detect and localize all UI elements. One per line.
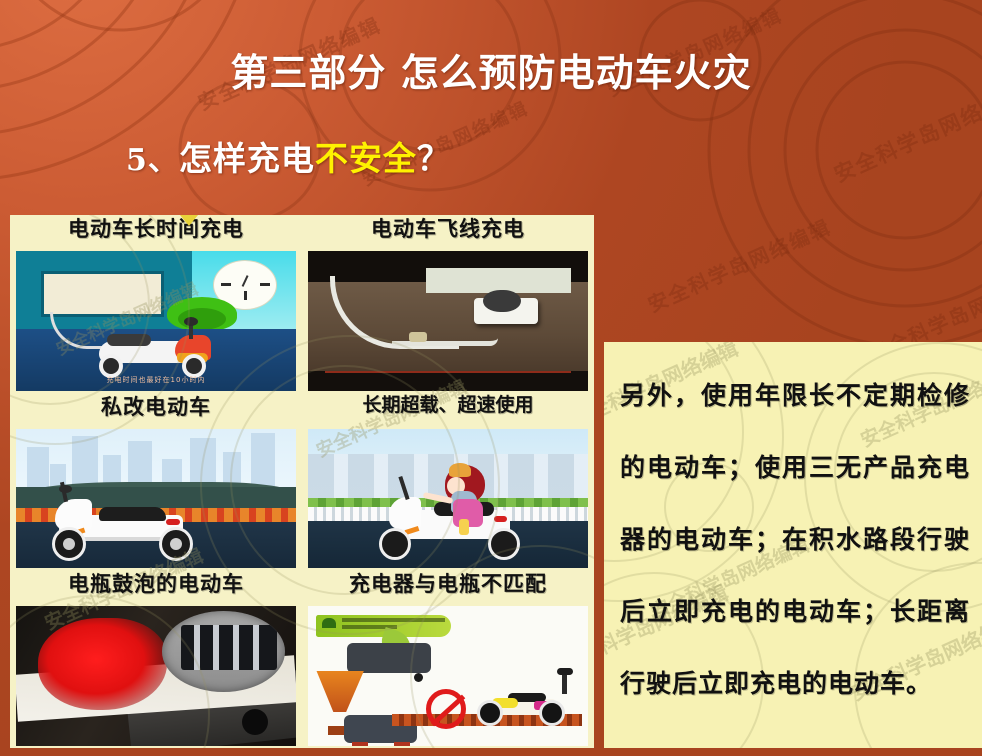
cell-label: 长期超载、超速使用	[308, 396, 588, 427]
grid-cell-modified-ebike[interactable]: 私改电动车	[10, 393, 302, 571]
rider-illustration	[421, 465, 487, 531]
thumbnail-caption: 充电时间也最好在10小时内	[16, 375, 296, 385]
thumbnail-modified-ebike	[16, 429, 296, 569]
cell-label: 私改电动车	[16, 396, 296, 427]
subtitle: 5、怎样充电不安全？	[126, 132, 451, 180]
subtitle-number: 5、	[126, 143, 179, 178]
text-panel: 安全科学岛网络编辑 安全科学岛网络编辑 安全科学岛网络编辑 安全科学岛网络编辑 …	[604, 342, 982, 748]
ebike-illustration	[475, 674, 571, 726]
plug	[483, 290, 521, 312]
subtitle-text-after: ？	[417, 139, 451, 178]
subtitle-text-before: 怎样充电	[179, 139, 315, 178]
cell-label: 充电器与电瓶不匹配	[308, 573, 588, 604]
thumbnail-dangling-wire-charging	[308, 251, 588, 391]
text-panel-paragraph: 另外，使用年限长不定期检修的电动车；使用三无产品充电器的电动车；在积水路段行驶后…	[620, 360, 970, 720]
grid-cell-overload-overspeed[interactable]: 长期超载、超速使用	[302, 393, 594, 571]
thumbnail-charger-mismatch	[308, 606, 588, 746]
cell-label: 电动车长时间充电	[16, 218, 296, 249]
grid-cell-long-time-charging[interactable]: 电动车长时间充电	[10, 215, 302, 393]
grid-cell-dangling-wire-charging[interactable]: 电动车飞线充电	[302, 215, 594, 393]
prohibition-icon	[426, 689, 466, 729]
triangle-marker	[180, 215, 198, 226]
scooter-illustration	[370, 464, 530, 560]
grid-cell-charger-mismatch[interactable]: 充电器与电瓶不匹配	[302, 570, 594, 748]
slide-canvas: 安全科学岛网络编辑 安全科学岛网络编辑 安全科学岛网络编辑 安全科学岛网络编辑 …	[0, 0, 982, 756]
grid-cell-swollen-battery[interactable]: 电瓶鼓泡的电动车	[10, 570, 302, 748]
cell-label: 电动车飞线充电	[308, 218, 588, 249]
subtitle-highlight: 不安全	[315, 139, 417, 178]
scooter-illustration	[89, 324, 219, 378]
thumbnail-overload-overspeed	[308, 429, 588, 569]
battery-swelling-highlight	[38, 618, 167, 710]
watermark-text: 安全科学岛网络编辑	[643, 211, 836, 318]
thumbnail-swollen-battery	[16, 606, 296, 746]
scooter-illustration	[38, 483, 206, 561]
image-grid: 电动车长时间充电	[10, 215, 594, 748]
battery-closeup-inset	[162, 611, 285, 692]
cell-label: 电瓶鼓泡的电动车	[16, 573, 296, 604]
image-grid-panel: 安全科学岛网络编辑 安全科学岛网络编辑 安全科学岛网络编辑 安全科学岛网络编辑 …	[10, 215, 594, 748]
page-title: 第三部分 怎么预防电动车火灾	[0, 42, 982, 97]
thumbnail-long-time-charging: 充电时间也最好在10小时内	[16, 251, 296, 391]
